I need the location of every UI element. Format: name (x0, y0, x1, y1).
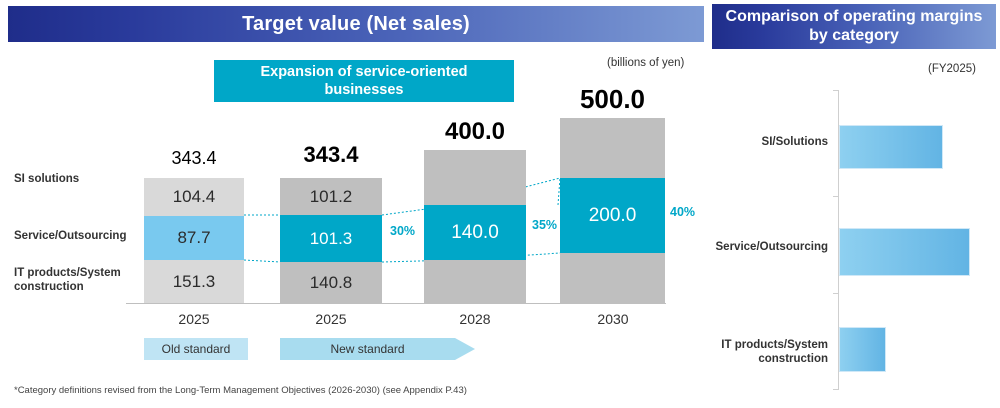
right-bar-si-solutions[interactable] (839, 125, 943, 169)
segment-si-solutions (560, 118, 665, 178)
chart-baseline (126, 303, 666, 304)
right-bar-label-line1: SI/Solutions (708, 135, 828, 149)
share-label-column-4: 40% (670, 205, 695, 219)
share-label-column-3: 35% (532, 218, 557, 232)
segment-si-solutions: 101.2 (280, 178, 382, 215)
legend-old-standard: Old standard (144, 338, 248, 360)
callout-text: Expansion of service-oriented businesses (224, 63, 504, 99)
total-label-column-4: 500.0 (560, 84, 665, 115)
operating-margin-chart: SI/Solutions Service/Outsourcing IT prod… (700, 0, 1000, 408)
target-value-chart: Expansion of service-oriented businesses… (0, 0, 700, 408)
axis-tick (833, 196, 839, 197)
segment-si-solutions (424, 150, 526, 205)
series-label-line2: construction (14, 280, 134, 294)
series-label-service-outsourcing: Service/Outsourcing (14, 229, 144, 243)
segment-service-outsourcing: 140.0 (424, 205, 526, 260)
axis-tick (833, 293, 839, 294)
axis-tick (833, 90, 839, 91)
segment-it-products: 140.8 (280, 262, 382, 303)
right-bar-label-line1: IT products/System (708, 338, 828, 352)
x-axis-label-2: 2025 (276, 311, 386, 327)
series-label-it-products: IT products/System construction (14, 266, 134, 295)
axis-tick (833, 389, 839, 390)
total-label-column-2: 343.4 (280, 142, 382, 168)
total-label-column-1: 343.4 (144, 148, 244, 169)
legend-new-standard-arrow-icon (455, 338, 475, 360)
segment-it-products: 151.3 (144, 260, 244, 303)
right-bar-it-products[interactable] (839, 327, 886, 372)
segment-service-outsourcing: 101.3 (280, 215, 382, 262)
series-label-si-solutions: SI solutions (14, 172, 144, 186)
callout-banner: Expansion of service-oriented businesses (214, 60, 514, 102)
legend-new-standard-label: New standard (330, 342, 404, 356)
x-axis-label-1: 2025 (139, 311, 249, 327)
series-label-line1: SI solutions (14, 172, 144, 186)
stacked-column-1[interactable]: 104.4 87.7 151.3 (144, 178, 244, 303)
segment-it-products (560, 253, 665, 303)
segment-si-solutions: 104.4 (144, 178, 244, 216)
right-bar-label-line2: construction (708, 352, 828, 366)
stacked-column-3[interactable]: 140.0 (424, 150, 526, 303)
x-axis-label-3: 2028 (420, 311, 530, 327)
segment-service-outsourcing: 200.0 (560, 178, 665, 253)
series-label-line1: IT products/System (14, 266, 134, 280)
share-label-column-2: 30% (390, 224, 415, 238)
legend-new-standard: New standard (280, 338, 455, 360)
total-label-column-3: 400.0 (424, 118, 526, 146)
footnote-text: *Category definitions revised from the L… (14, 385, 467, 396)
legend-old-standard-label: Old standard (162, 342, 231, 356)
right-bar-label-line1: Service/Outsourcing (708, 240, 828, 254)
right-bar-label-it-products: IT products/System construction (708, 338, 828, 367)
right-bar-label-service-outsourcing: Service/Outsourcing (708, 240, 828, 254)
series-label-line1: Service/Outsourcing (14, 229, 144, 243)
stacked-column-2[interactable]: 101.2 101.3 140.8 (280, 178, 382, 303)
x-axis-label-4: 2030 (558, 311, 668, 327)
right-bar-label-si-solutions: SI/Solutions (708, 135, 828, 149)
right-bar-service-outsourcing[interactable] (839, 228, 970, 276)
segment-it-products (424, 260, 526, 303)
segment-service-outsourcing: 87.7 (144, 216, 244, 260)
stacked-column-4[interactable]: 200.0 (560, 118, 665, 303)
